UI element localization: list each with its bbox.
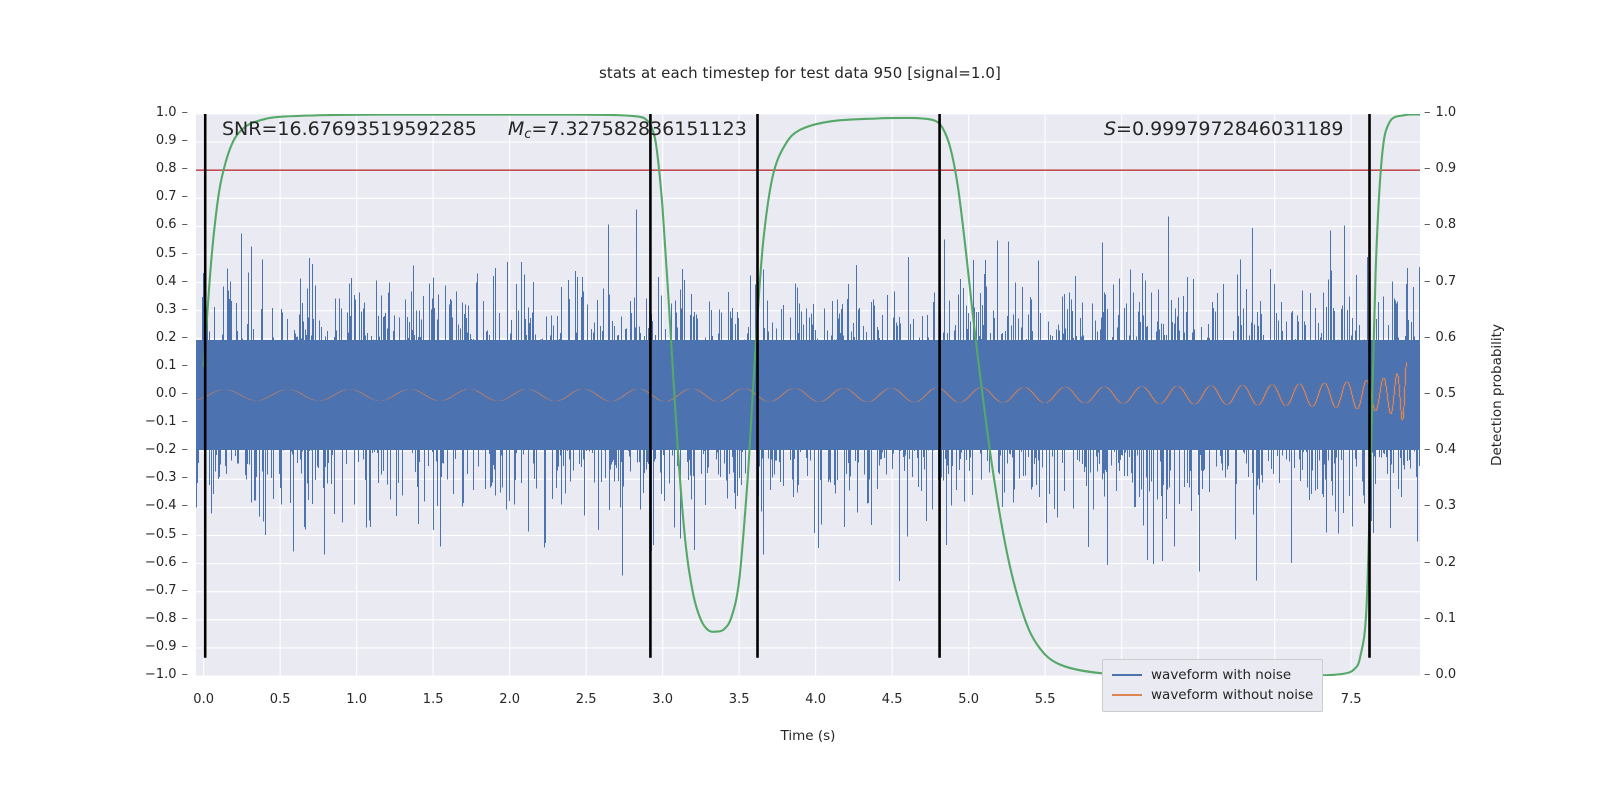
legend-item[interactable]: waveform with noise [1112,665,1313,685]
annotation-snr: SNR=16.67693519592285 [222,118,477,140]
y-tick-left: −1.0– [145,667,188,682]
x-tick: 0.5 [270,692,291,707]
y-tick-right: –1.0 [1424,105,1456,120]
y-tick-right: –0.9 [1424,161,1456,176]
annotation-score-symbol: S [1104,118,1116,140]
x-tick: 7.5 [1341,692,1362,707]
y-tick-left: −0.5– [145,527,188,542]
y-tick-left: −0.1– [145,414,188,429]
legend-color-swatch [1112,694,1142,696]
annotation-score-value: 0.9997972846031189 [1132,118,1344,140]
annotation-chirp-mass-value: 7.327582836151123 [547,118,746,140]
y-tick-right: –0.7 [1424,274,1456,289]
y-tick-left: 0.6– [156,217,188,232]
y-tick-right: –0.6 [1424,330,1456,345]
y-tick-left: −0.2– [145,442,188,457]
annotation-snr-value: 16.67693519592285 [277,118,476,140]
y-tick-left: 1.0– [156,105,188,120]
annotation-chirp-mass-eq: = [531,118,547,140]
legend-item[interactable]: waveform without noise [1112,685,1313,705]
plot-area [196,114,1420,676]
y-tick-left: 0.4– [156,274,188,289]
y-tick-left: −0.6– [145,555,188,570]
series-detection-probability [204,114,1420,676]
x-tick: 4.5 [882,692,903,707]
x-tick: 2.5 [576,692,597,707]
legend-item-label: waveform without noise [1151,687,1313,703]
y-tick-left: 0.3– [156,302,188,317]
x-tick: 1.0 [346,692,367,707]
annotation-chirp-mass: Mc=7.327582836151123 [508,118,747,142]
x-tick: 4.0 [805,692,826,707]
x-tick: 3.0 [652,692,673,707]
overlay-layer [196,114,1420,676]
y-tick-right: –0.5 [1424,386,1456,401]
y-tick-right: –0.0 [1424,667,1456,682]
y-tick-right: –0.8 [1424,217,1456,232]
y-tick-right: –0.4 [1424,442,1456,457]
x-axis-label: Time (s) [196,728,1420,744]
y-tick-left: 0.5– [156,246,188,261]
y-tick-left: 0.9– [156,133,188,148]
y-tick-left: −0.4– [145,498,188,513]
y-tick-left: 0.2– [156,330,188,345]
figure-canvas: stats at each timestep for test data 950… [0,0,1600,800]
x-tick: 0.0 [193,692,214,707]
y-tick-left: −0.9– [145,639,188,654]
legend: waveform with noisewaveform without nois… [1102,659,1323,712]
annotation-score: S=0.9997972846031189 [1104,118,1344,140]
y-tick-left: 0.0– [156,386,188,401]
legend-color-swatch [1112,674,1142,676]
x-tick: 5.5 [1035,692,1056,707]
y-tick-left: −0.3– [145,470,188,485]
y-tick-left: 0.7– [156,189,188,204]
x-tick: 2.0 [499,692,520,707]
y-tick-left: 0.1– [156,358,188,373]
y-tick-left: −0.8– [145,611,188,626]
y-axis-label-right: Detection probability [1489,114,1517,676]
annotation-score-eq: = [1116,118,1132,140]
y-tick-right: –0.3 [1424,498,1456,513]
y-tick-right: –0.2 [1424,555,1456,570]
x-tick: 5.0 [958,692,979,707]
chart-title: stats at each timestep for test data 950… [0,64,1600,82]
y-tick-left: −0.7– [145,583,188,598]
annotation-chirp-mass-symbol: M [508,118,524,140]
legend-item-label: waveform with noise [1151,667,1291,683]
x-tick: 3.5 [729,692,750,707]
x-tick: 1.5 [423,692,444,707]
y-tick-left: 0.8– [156,161,188,176]
y-tick-right: –0.1 [1424,611,1456,626]
annotation-snr-text: SNR= [222,118,277,140]
